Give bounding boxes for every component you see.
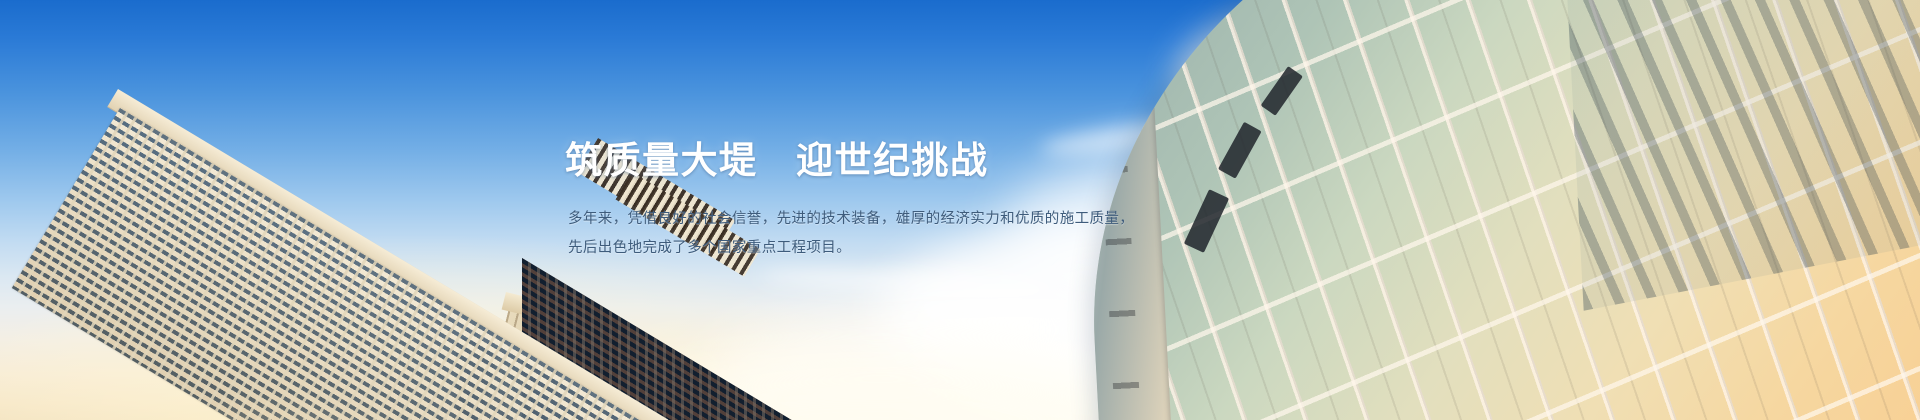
banner-subtitle-line-1: 多年来，凭借良好的社会信誉，先进的技术装备，雄厚的经济实力和优质的施工质量， [568, 205, 1125, 234]
facade-fine-mullions [1071, 0, 1920, 420]
small-building-roof [502, 292, 621, 338]
cloud-far-right [1420, 0, 1640, 110]
small-building-fins [499, 386, 608, 420]
small-building-shadow-side [456, 336, 514, 420]
cloud-top-right [1180, 10, 1470, 150]
facade-horizontal-mullions [1071, 0, 1920, 420]
facade-vent-3 [1261, 66, 1303, 116]
sun-glow [1091, 214, 1920, 420]
cloud-lower-center [700, 300, 1320, 420]
cloud-bottom-warm [620, 355, 1140, 420]
highrise-dark-facade [522, 258, 822, 420]
glass-facade [1071, 0, 1920, 420]
facade-vertical-mullions [1071, 0, 1920, 420]
hero-banner: 筑质量大堤 迎世纪挑战 多年来，凭借良好的社会信誉，先进的技术装备，雄厚的经济实… [0, 0, 1920, 420]
banner-copy: 筑质量大堤 迎世纪挑战 多年来，凭借良好的社会信誉，先进的技术装备，雄厚的经济实… [565, 140, 1125, 263]
banner-subtitle: 多年来，凭借良好的社会信誉，先进的技术装备，雄厚的经济实力和优质的施工质量， 先… [568, 205, 1125, 263]
glass-reflection [1561, 0, 1920, 310]
small-building-facade [471, 304, 618, 420]
cloud-wisp-2 [1140, 177, 1401, 215]
banner-headline: 筑质量大堤 迎世纪挑战 [565, 140, 1125, 183]
cloud-top-right-bright [1290, 45, 1480, 140]
facade-vent-1 [1184, 189, 1229, 253]
cloud-wisp-4 [300, 347, 720, 376]
small-tan-building [500, 286, 700, 420]
cloud-wisp-3 [760, 264, 1061, 302]
banner-subtitle-line-2: 先后出色地完成了多个国家重点工程项目。 [568, 234, 1125, 263]
edge-highlight [1071, 0, 1920, 420]
facade-vent-2 [1218, 122, 1262, 179]
curved-glass-building [1071, 0, 1920, 420]
cloud-center-right [1080, 260, 1440, 400]
